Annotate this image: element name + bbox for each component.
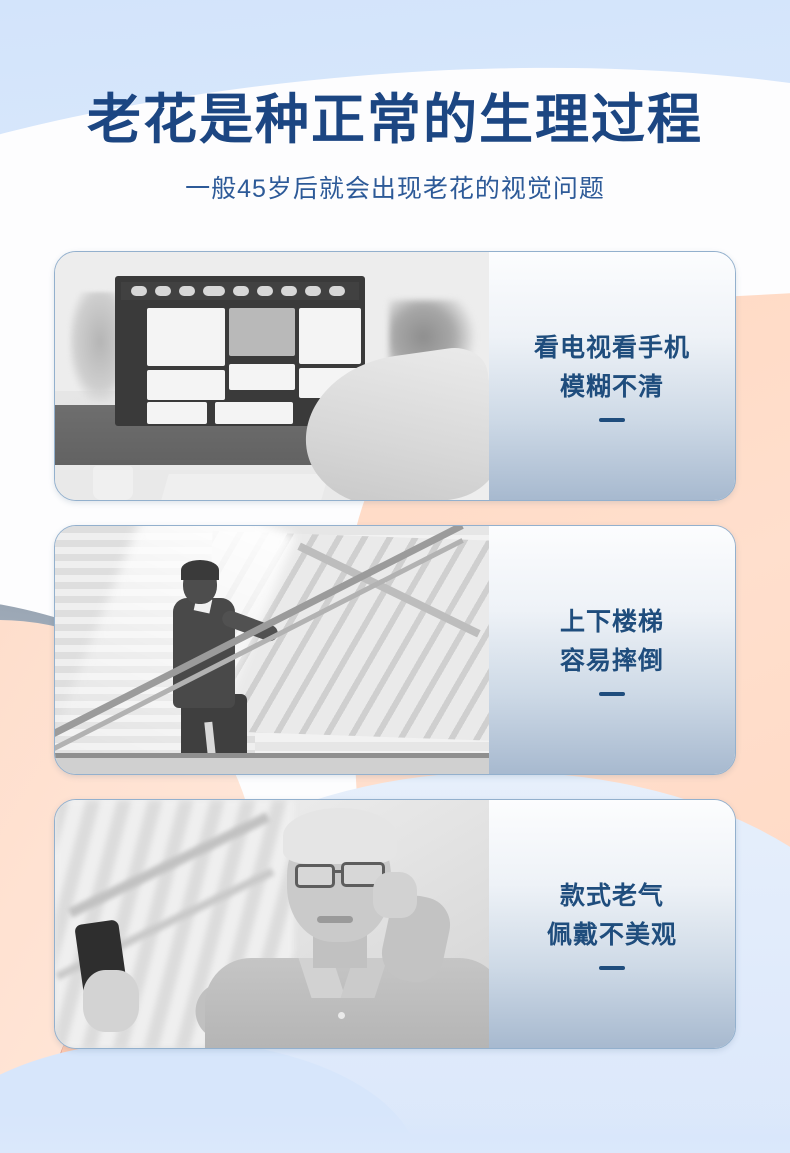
photo2-man-hair — [181, 560, 219, 580]
symptom-card-1-line2: 模糊不清 — [560, 368, 664, 407]
photo2-floor — [55, 758, 489, 774]
symptom-card-2-text: 上下楼梯 容易摔倒 — [489, 526, 735, 774]
photo3-right-hand — [373, 872, 417, 918]
photo1-papers — [161, 474, 328, 500]
photo1-tv-menu-pill-active — [203, 286, 225, 296]
photo1-tv-menu-pill — [155, 286, 171, 296]
symptom-card-list: 看电视看手机 模糊不清 上下楼梯 容易摔倒 — [0, 251, 790, 1049]
photo1-tv-menu-pill — [131, 286, 147, 296]
photo1-tv-tile — [147, 370, 225, 400]
photo1-tv-tile — [299, 308, 361, 364]
photo-watching-tv-with-remote — [55, 252, 489, 500]
bottom-fade-strip — [0, 1113, 790, 1153]
symptom-card-1-line1: 看电视看手机 — [534, 329, 690, 368]
photo1-tv-tile — [147, 402, 207, 424]
symptom-card-3-line1: 款式老气 — [560, 877, 664, 916]
photo3-hair — [283, 808, 397, 864]
symptom-card-3: 款式老气 佩戴不美观 — [54, 799, 736, 1049]
photo3-shirt-button — [338, 1012, 345, 1019]
symptom-card-1: 看电视看手机 模糊不清 — [54, 251, 736, 501]
symptom-card-2-line1: 上下楼梯 — [560, 603, 664, 642]
photo3-mouth — [317, 916, 353, 923]
photo1-tv-tile — [229, 364, 295, 390]
photo3-shirt — [205, 958, 489, 1048]
photo1-tv-menu-pill — [305, 286, 321, 296]
symptom-card-1-divider — [599, 418, 625, 422]
photo1-tv-menu-pill — [329, 286, 345, 296]
symptom-card-3-text: 款式老气 佩戴不美观 — [489, 800, 735, 1048]
photo1-mug — [93, 466, 133, 500]
symptom-card-2: 上下楼梯 容易摔倒 — [54, 525, 736, 775]
symptom-card-2-divider — [599, 692, 625, 696]
photo1-tv-tile — [229, 308, 295, 356]
photo1-tv-menu-pill — [233, 286, 249, 296]
photo3-eyeglass-left-lens — [295, 864, 335, 888]
photo3-left-hand — [83, 970, 139, 1032]
page-subtitle: 一般45岁后就会出现老花的视觉问题 — [0, 169, 790, 205]
symptom-card-2-line2: 容易摔倒 — [560, 642, 664, 681]
photo1-tv-menu-pill — [179, 286, 195, 296]
photo-man-climbing-stairs — [55, 526, 489, 774]
symptom-card-1-text: 看电视看手机 模糊不清 — [489, 252, 735, 500]
photo1-tv-tile — [147, 308, 225, 366]
symptom-card-3-divider — [599, 966, 625, 970]
page-header: 老花是种正常的生理过程 一般45岁后就会出现老花的视觉问题 — [0, 0, 790, 205]
photo-senior-squinting-at-phone — [55, 800, 489, 1048]
photo1-tv-menu-pill — [281, 286, 297, 296]
photo3-eyeglass-bridge — [334, 870, 344, 873]
photo1-tv-tile — [215, 402, 293, 424]
photo1-tv-menu-pill — [257, 286, 273, 296]
symptom-card-3-line2: 佩戴不美观 — [547, 916, 677, 955]
page-title: 老花是种正常的生理过程 — [0, 92, 790, 149]
